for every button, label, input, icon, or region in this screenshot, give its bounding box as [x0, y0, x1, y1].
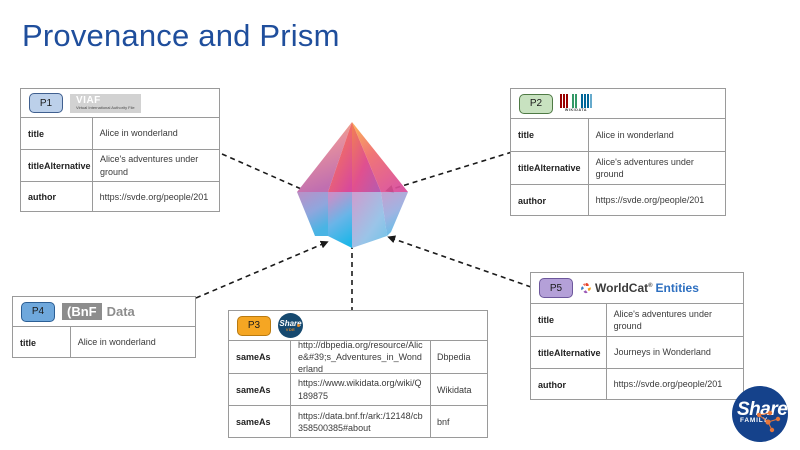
- badge-p3-label: P3: [248, 320, 260, 331]
- network-nodes-icon: [756, 410, 784, 436]
- badge-p4: P4: [21, 302, 55, 322]
- row-key: title: [511, 119, 589, 151]
- row-value: https://svde.org/people/201: [589, 185, 725, 216]
- row-key: title: [13, 327, 71, 358]
- badge-p5: P5: [539, 278, 573, 298]
- panel-p3-header: P3 Share VDE: [229, 311, 487, 341]
- row-key: sameAs: [229, 374, 291, 405]
- panel-p1[interactable]: P1 VIAF Virtual International Authority …: [20, 88, 220, 212]
- panel-p5[interactable]: P5 WorldCat® Entities title Alice's adve…: [530, 272, 744, 400]
- wikidata-logo: WIKIDATA: [560, 94, 592, 113]
- badge-p5-label: P5: [550, 283, 562, 294]
- row-key: titleAlternative: [21, 150, 93, 181]
- row-value: https://data.bnf.fr/ark:/12148/cb3585003…: [291, 406, 431, 438]
- row-key: title: [21, 118, 93, 149]
- table-row: title Alice in wonderland: [21, 118, 219, 150]
- panel-p5-header: P5 WorldCat® Entities: [531, 273, 743, 304]
- row-tag: Wikidata: [431, 374, 487, 405]
- row-value: Alice's adventures under ground: [589, 152, 725, 184]
- row-tag: bnf: [431, 406, 487, 438]
- row-key: titleAlternative: [531, 337, 607, 368]
- bnf-logo-title: (BnF: [62, 303, 102, 320]
- row-tag: Dbpedia: [431, 341, 487, 373]
- panel-p4-header: P4 (BnF Data: [13, 297, 195, 327]
- row-key: sameAs: [229, 341, 291, 373]
- panel-p1-header: P1 VIAF Virtual International Authority …: [21, 89, 219, 118]
- worldcat-entities-logo: WorldCat® Entities: [580, 282, 699, 294]
- row-value: Journeys in Wonderland: [607, 337, 743, 368]
- table-row: author https://svde.org/people/201: [531, 369, 743, 400]
- slide-canvas: Provenance and Prism: [0, 0, 800, 450]
- table-row: sameAs http://dbpedia.org/resource/Alice…: [229, 341, 487, 374]
- share-vde-subtitle: VDE: [286, 328, 295, 332]
- wikidata-bars: [560, 94, 592, 108]
- row-value: Alice in wonderland: [589, 119, 725, 151]
- table-row: titleAlternative Journeys in Wonderland: [531, 337, 743, 369]
- row-key: title: [531, 304, 607, 336]
- badge-p4-label: P4: [32, 306, 44, 317]
- share-vde-dot: [297, 324, 300, 327]
- row-key: titleAlternative: [511, 152, 589, 184]
- bnf-logo-subtitle: Data: [102, 303, 140, 320]
- panel-p2-header: P2 WIKIDATA: [511, 89, 725, 119]
- share-family-logo: Share FAMILY: [732, 386, 788, 442]
- table-row: title Alice's adventures under ground: [531, 304, 743, 337]
- table-row: author https://svde.org/people/201: [511, 185, 725, 216]
- table-row: titleAlternative Alice's adventures unde…: [21, 150, 219, 182]
- table-row: title Alice in wonderland: [13, 327, 195, 358]
- viaf-logo: VIAF Virtual International Authority Fil…: [70, 94, 141, 113]
- panel-p3[interactable]: P3 Share VDE sameAs http://dbpedia.org/r…: [228, 310, 488, 438]
- badge-p2: P2: [519, 94, 553, 114]
- row-key: sameAs: [229, 406, 291, 438]
- panel-p4[interactable]: P4 (BnF Data title Alice in wonderland: [12, 296, 196, 358]
- viaf-logo-title: VIAF: [76, 96, 135, 106]
- worldcat-logo-title: WorldCat®: [595, 282, 653, 294]
- wikidata-logo-title: WIKIDATA: [565, 109, 587, 113]
- panel-p2[interactable]: P2 WIKIDATA title Alice in wonderland ti…: [510, 88, 726, 216]
- badge-p3: P3: [237, 316, 271, 336]
- table-row: sameAs https://data.bnf.fr/ark:/12148/cb…: [229, 406, 487, 438]
- share-vde-logo: Share VDE: [278, 313, 303, 338]
- row-value: Alice in wonderland: [93, 118, 219, 149]
- row-value: Alice's adventures under ground: [93, 150, 219, 181]
- table-row: titleAlternative Alice's adventures unde…: [511, 152, 725, 185]
- worldcat-mark-icon: [580, 282, 592, 294]
- row-value: Alice in wonderland: [71, 327, 195, 358]
- row-key: author: [531, 369, 607, 400]
- row-key: author: [21, 182, 93, 212]
- table-row: sameAs https://www.wikidata.org/wiki/Q18…: [229, 374, 487, 406]
- connector-p5: [391, 238, 531, 287]
- table-row: author https://svde.org/people/201: [21, 182, 219, 212]
- row-value: http://dbpedia.org/resource/Alice&#39;s_…: [291, 341, 431, 373]
- badge-p1: P1: [29, 93, 63, 113]
- row-key: author: [511, 185, 589, 216]
- row-value: https://svde.org/people/201: [93, 182, 219, 212]
- bnf-data-logo: (BnF Data: [62, 303, 140, 320]
- row-value: https://svde.org/people/201: [607, 369, 743, 400]
- badge-p2-label: P2: [530, 98, 542, 109]
- badge-p1-label: P1: [40, 98, 52, 109]
- row-value: https://www.wikidata.org/wiki/Q189875: [291, 374, 431, 405]
- table-row: title Alice in wonderland: [511, 119, 725, 152]
- worldcat-logo-subtitle: Entities: [656, 282, 699, 294]
- prism-graphic: [295, 118, 410, 253]
- viaf-logo-subtitle: Virtual International Authority File: [76, 106, 135, 110]
- row-value: Alice's adventures under ground: [607, 304, 743, 336]
